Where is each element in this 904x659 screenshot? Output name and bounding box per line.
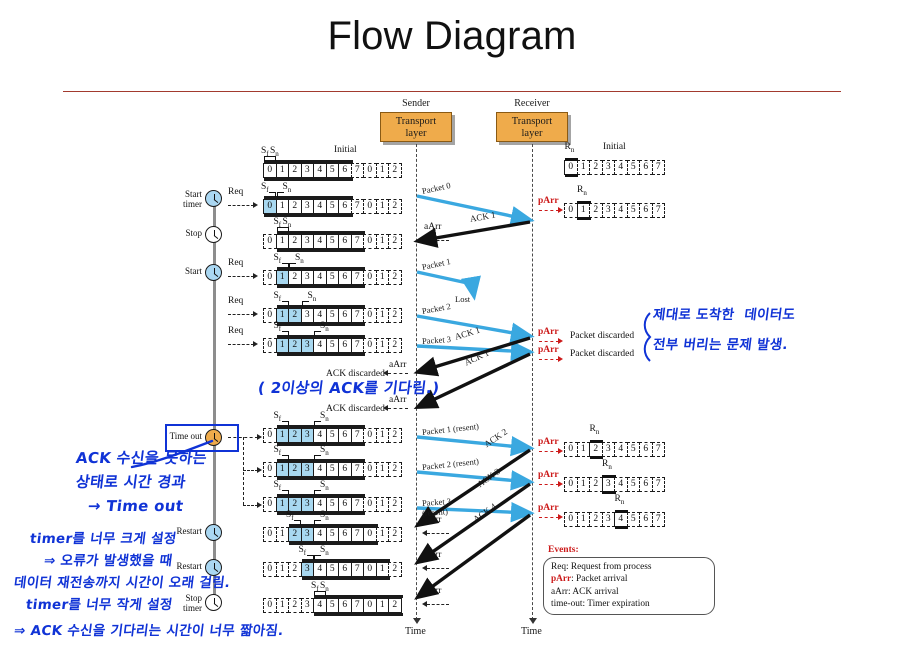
parr-arrowhead [558,207,563,213]
window-slot: 7 [652,512,666,527]
timeout-arrowhead [257,434,262,440]
window-slot: 6 [338,163,352,178]
packet-arrow-label: Packet 2 (resent) [421,456,479,472]
window-slot: 1 [577,477,591,492]
sn-pointer-label: Sn [308,291,317,303]
sn-bracket [264,156,271,161]
window-slot: 0 [363,163,377,178]
window-slot: 0 [363,199,377,214]
timer-label: Starttimer [140,190,202,209]
rn-pointer-label: Rn [602,459,612,471]
window-slot: 1 [577,160,591,175]
window-slot: 3 [301,527,315,542]
window-slot: 7 [652,477,666,492]
sender-window-row: 01234567012 [264,270,402,285]
sn-pointer-label: Sn [283,182,292,194]
window-slot: 1 [376,308,390,323]
sn-pointer-label: Sn [283,217,292,229]
window-slot: 6 [639,160,653,175]
aarr-event-label: aArr [424,550,441,560]
window-slot: 2 [589,477,603,492]
window-slot: 0 [363,308,377,323]
window-slot: 3 [301,270,315,285]
parr-event-arrow [539,341,559,342]
sn-bracket [277,227,284,232]
window-slot: 4 [313,199,327,214]
window-slot: 2 [288,163,302,178]
timer-clock-icon [205,429,222,446]
receiver-axis-arrow [529,618,537,624]
window-slot: 2 [288,462,302,477]
transport-line-1: Transport [497,116,567,128]
window-slot: 2 [589,512,603,527]
sn-bracket [277,192,284,197]
window-slot: 4 [614,477,628,492]
window-slot: 7 [351,497,365,512]
events-legend-item: Req: Request from process [551,561,707,573]
window-slot: 7 [351,428,365,443]
window-slot: 5 [326,562,340,577]
window-slot: 5 [326,598,340,613]
annotation-bottom-line3: 데이터 재전송까지 시간이 오래 걸림. [13,574,231,592]
window-boundary-bar [314,595,403,598]
req-arrowhead [253,311,258,317]
sender-window-row: 01234567012 [264,338,402,353]
receiver-time-axis [532,144,533,620]
req-arrowhead [253,273,258,279]
window-slot: 6 [639,477,653,492]
parr-event-label: pArr [538,470,559,480]
window-slot: 3 [301,199,315,214]
window-boundary-bar [302,577,391,580]
window-slot: 3 [602,512,616,527]
timer-label: Time out [140,432,202,442]
aarr-event-label: aArr [389,360,406,370]
initial-note: Initial [334,145,357,155]
ack-arrow-label: ACK 4 [471,501,498,524]
window-slot: 3 [301,562,315,577]
window-slot: 1 [376,527,390,542]
timeout-branch-arrow [243,505,258,506]
window-slot: 4 [313,163,327,178]
window-slot: 2 [388,497,402,512]
sf-pointer-label: Sf [274,445,282,457]
req-event-label: Req [228,326,243,336]
slide-canvas: Flow Diagram Sender Receiver Transport l… [0,0,904,659]
window-slot: 2 [388,598,402,613]
window-slot: 4 [313,527,327,542]
sf-bracket [307,555,314,560]
window-slot: 1 [376,462,390,477]
rn-marker [602,475,616,494]
window-slot: 0 [263,462,277,477]
timeout-branch-arrow [243,470,258,471]
window-slot: 5 [326,163,340,178]
window-slot: 2 [589,160,603,175]
window-slot: 1 [376,598,390,613]
window-slot: 0 [363,562,377,577]
sn-pointer-label: Sn [320,480,329,492]
aarr-event-arrow [388,408,408,409]
annotation-timeout-line3: → Time out [87,496,185,516]
receiver-time-label: Time [521,626,542,637]
aarr-arrowhead [422,565,427,571]
window-boundary-bar [277,231,366,234]
annotation-bottom-line1: timer를 너무 크게 설정 [29,530,178,548]
window-slot: 3 [301,163,315,178]
timer-clock-icon [205,594,222,611]
window-slot: 2 [388,234,402,249]
parr-arrowhead [558,481,563,487]
window-slot: 1 [276,598,290,613]
packet-arrow-label: Packet 2 [421,301,451,316]
sender-axis-arrow [413,618,421,624]
window-slot: 5 [627,477,641,492]
sn-bracket [314,421,321,426]
timer-label: Start [140,267,202,277]
window-slot: 0 [263,562,277,577]
ack-arrow-label: ACK 1 [469,210,496,224]
parr-event-arrow [539,517,559,518]
window-slot: 2 [288,308,302,323]
window-slot: 1 [376,234,390,249]
window-slot: 1 [376,270,390,285]
packet-arrow-label: Packet 1 (resent) [421,421,479,437]
window-boundary-bar [277,305,366,308]
window-slot: 6 [338,462,352,477]
window-slot: 3 [301,308,315,323]
sn-pointer-label: Sn [270,146,279,158]
aarr-event-arrow [427,604,449,605]
window-slot: 5 [326,270,340,285]
aarr-arrowhead [422,237,427,243]
window-slot: 4 [313,338,327,353]
sf-bracket [282,455,289,460]
window-slot: 0 [363,234,377,249]
sender-window-row: 01234567012 [264,527,402,542]
parr-arrowhead [558,448,563,454]
sn-bracket [314,520,321,525]
title-divider [63,91,841,92]
req-event-label: Req [228,258,243,268]
window-slot: 0 [263,163,277,178]
aarr-arrowhead [383,370,388,376]
transport-line-2: layer [381,128,451,140]
packet-discarded-label: Packet discarded [570,331,634,341]
window-boundary-bar [277,353,366,356]
sender-window-row: 01234567012 [264,497,402,512]
timer-clock-icon [205,226,222,243]
window-slot: 2 [388,527,402,542]
sender-label: Sender [371,98,461,109]
window-slot: 5 [326,199,340,214]
window-slot: 1 [276,199,290,214]
window-slot: 5 [627,442,641,457]
sf-bracket [282,331,289,336]
window-slot: 0 [564,477,578,492]
window-slot: 7 [652,203,666,218]
annotation-timeout-line1: ACK 수신을 못하는 [75,448,208,468]
window-slot: 4 [614,442,628,457]
window-slot: 2 [388,163,402,178]
window-slot: 6 [338,527,352,542]
window-slot: 0 [564,203,578,218]
sender-window-row: 01234567012 [264,598,402,613]
window-slot: 1 [276,270,290,285]
sender-window-row: 01234567012 [264,163,402,178]
window-slot: 1 [376,562,390,577]
sender-window-row: 01234567012 [264,199,402,214]
window-slot: 2 [388,199,402,214]
parr-event-arrow [539,359,559,360]
ack-arrow-label: ACK 1 [463,348,491,368]
window-slot: 4 [614,160,628,175]
window-slot: 3 [301,497,315,512]
rn-marker [615,510,629,529]
window-slot: 0 [363,598,377,613]
window-slot: 7 [351,308,365,323]
window-slot: 1 [376,497,390,512]
window-slot: 5 [326,462,340,477]
ack-discarded-label: ACK discarded [326,404,385,414]
parr-arrowhead [558,338,563,344]
events-legend-item: pArr: Packet arrival [551,573,707,585]
parr-arrowhead [558,356,563,362]
window-slot: 7 [351,199,365,214]
window-slot: 2 [288,527,302,542]
window-slot: 2 [388,428,402,443]
window-slot: 4 [614,203,628,218]
window-slot: 1 [276,163,290,178]
window-slot: 2 [589,203,603,218]
window-slot: 5 [326,428,340,443]
sender-time-label: Time [405,626,426,637]
window-slot: 1 [276,428,290,443]
timeout-arrowhead [257,467,262,473]
initial-note: Initial [603,142,626,152]
window-slot: 7 [351,270,365,285]
window-slot: 3 [301,598,315,613]
annotation-right-line2: 전부 버리는 문제 발생. [652,336,789,354]
rn-pointer-label: Rn [565,142,575,154]
window-slot: 6 [338,199,352,214]
window-slot: 5 [627,160,641,175]
window-slot: 5 [326,234,340,249]
packet-arrow-label: Packet 0 [421,180,451,196]
aarr-arrowhead [383,405,388,411]
rn-marker [590,440,604,459]
window-slot: 2 [288,428,302,443]
receiver-window-row: 01234567 [565,160,665,175]
req-event-arrow [228,205,254,206]
parr-event-label: pArr [538,196,559,206]
sn-bracket [302,301,309,306]
window-slot: 5 [627,512,641,527]
timer-clock-icon [205,190,222,207]
window-slot: 0 [363,527,377,542]
ack-arrow-label: ACK 1 [454,325,482,342]
window-slot: 2 [288,598,302,613]
sf-bracket [294,520,301,525]
window-slot: 2 [288,270,302,285]
window-slot: 6 [639,203,653,218]
rn-pointer-label: Rn [615,494,625,506]
window-slot: 0 [363,462,377,477]
rn-marker [565,158,579,177]
parr-event-label: pArr [538,437,559,447]
window-slot: 0 [263,598,277,613]
window-slot: 2 [388,562,402,577]
window-slot: 1 [276,462,290,477]
window-slot: 1 [276,562,290,577]
annotation-bottom-line5: ⇒ ACK 수신을 기다리는 시간이 너무 짧아짐. [13,622,285,640]
window-slot: 3 [301,234,315,249]
sf-pointer-label: Sf [274,291,282,303]
parr-event-arrow [539,210,559,211]
window-slot: 7 [351,163,365,178]
window-slot: 6 [338,234,352,249]
sn-bracket [314,490,321,495]
window-slot: 2 [288,199,302,214]
receiver-label: Receiver [487,98,577,109]
sn-bracket [314,555,321,560]
annotation-center-note: ( 2이상의 ACK를 기다림.) [257,378,441,398]
aarr-event-arrow [427,568,449,569]
window-slot: 1 [276,234,290,249]
window-slot: 0 [363,497,377,512]
packet-arrow-label: (resent) [422,506,449,518]
rn-pointer-label: Rn [590,424,600,436]
sender-window-row: 01234567012 [264,234,402,249]
annotation-timeout-line2: 상태로 시간 경과 [75,472,187,492]
window-boundary-bar [264,178,353,181]
window-slot: 7 [351,527,365,542]
lost-label: Lost [455,294,470,304]
req-event-label: Req [228,187,243,197]
sf-pointer-label: Sf [261,182,269,194]
sf-pointer-label: Sf [274,411,282,423]
req-arrowhead [253,341,258,347]
window-slot: 7 [351,234,365,249]
timeout-arrowhead [257,502,262,508]
sf-bracket [282,490,289,495]
window-boundary-bar [314,613,403,616]
ack-arrow-label: ACK 2 [482,426,509,449]
aarr-event-arrow [427,240,449,241]
window-slot: 6 [639,442,653,457]
window-slot: 3 [602,442,616,457]
window-slot: 2 [288,562,302,577]
window-slot: 6 [338,338,352,353]
window-boundary-bar [264,160,353,163]
rn-pointer-label: Rn [577,185,587,197]
window-slot: 6 [338,270,352,285]
annotation-right-line1: 제대로 도착한 데이터도 [652,306,796,324]
window-slot: 3 [301,462,315,477]
req-event-arrow [228,276,254,277]
sf-pointer-label: Sf [286,510,294,522]
window-slot: 3 [602,203,616,218]
window-slot: 4 [313,462,327,477]
window-slot: 2 [388,338,402,353]
window-slot: 0 [363,338,377,353]
sn-pointer-label: Sn [320,321,329,333]
events-legend-title: Events: [548,545,579,555]
events-legend-item: time-out: Timer expiration [551,598,707,610]
aarr-event-arrow [388,373,408,374]
window-slot: 2 [388,462,402,477]
annotation-bottom-line4: timer를 너무 작게 설정 [25,596,174,614]
sf-bracket [282,301,289,306]
packet-arrow-label: Packet 1 [421,256,451,272]
window-boundary-bar [277,249,366,252]
annotation-bottom-line2: ⇒ 오류가 발생했을 때 [43,552,174,570]
window-slot: 0 [564,512,578,527]
sf-pointer-label: Sf [274,480,282,492]
page-title: Flow Diagram [0,14,904,59]
sn-bracket [314,455,321,460]
window-slot: 4 [313,598,327,613]
parr-event-label: pArr [538,327,559,337]
window-slot: 2 [288,338,302,353]
window-slot: 1 [276,527,290,542]
window-slot: 6 [338,598,352,613]
window-slot: 2 [388,270,402,285]
window-slot: 7 [351,338,365,353]
window-slot: 4 [313,234,327,249]
window-slot: 6 [639,512,653,527]
timer-clock-icon [205,264,222,281]
window-slot: 4 [313,270,327,285]
window-boundary-bar [289,524,378,527]
window-slot: 2 [388,308,402,323]
req-arrowhead [253,202,258,208]
window-slot: 3 [301,428,315,443]
window-slot: 1 [376,163,390,178]
packet-arrow-label: Packet 3 [422,334,452,346]
parr-event-arrow [539,451,559,452]
window-slot: 0 [363,428,377,443]
req-event-label: Req [228,296,243,306]
window-slot: 0 [263,338,277,353]
transport-line-1: Transport [381,116,451,128]
aarr-event-arrow [427,533,449,534]
sender-window-row: 01234567012 [264,562,402,577]
window-slot: 1 [376,199,390,214]
receiver-transport-layer-box: Transport layer [496,112,568,142]
timer-clock-icon [205,524,222,541]
receiver-window-row: 01234567 [565,442,665,457]
window-slot: 7 [652,160,666,175]
window-slot: 5 [326,338,340,353]
timeout-branch-spine [243,437,244,505]
window-slot: 1 [276,338,290,353]
window-slot: 1 [577,442,591,457]
window-slot: 0 [363,270,377,285]
sender-window-row: 01234567012 [264,428,402,443]
req-event-arrow [228,314,254,315]
ack-arrow-label: ACK 3 [475,466,502,489]
sn-bracket [289,263,296,268]
window-slot: 3 [602,160,616,175]
timer-label: Stop [140,229,202,239]
window-slot: 0 [263,497,277,512]
req-event-arrow [228,344,254,345]
parr-event-arrow [539,484,559,485]
window-slot: 4 [313,562,327,577]
sf-bracket [269,192,276,197]
packet-discarded-label: Packet discarded [570,349,634,359]
